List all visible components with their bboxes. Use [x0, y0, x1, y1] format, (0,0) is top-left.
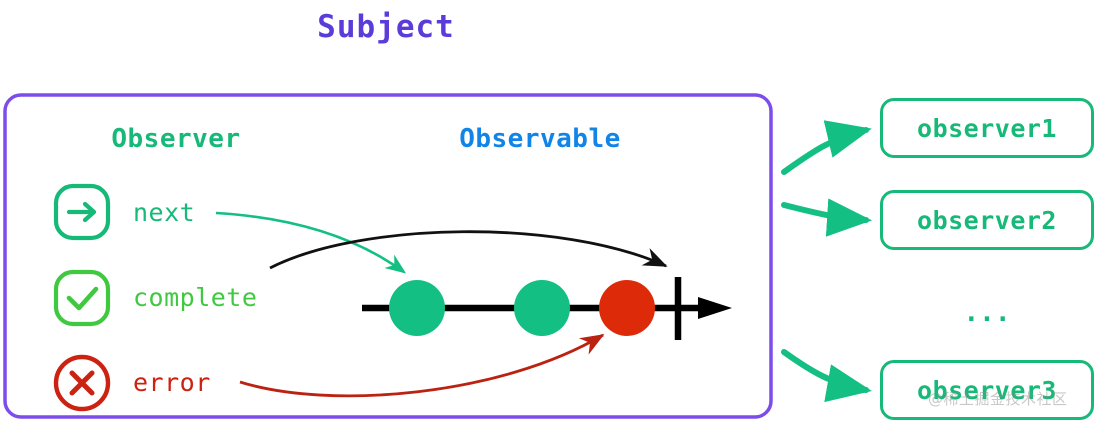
marble-timeline [362, 277, 732, 340]
observer-box-observer2[interactable]: observer2 [880, 190, 1094, 250]
observer-box-observer1[interactable]: observer1 [880, 98, 1094, 158]
method-label-complete: complete [133, 285, 257, 310]
observer-label-observer2: observer2 [917, 206, 1057, 235]
method-label-error: error [133, 370, 211, 395]
observers-ellipsis: ... [880, 300, 1094, 326]
subject-to-observer3-arrow [784, 352, 866, 390]
subject-to-observer1-arrow [784, 130, 866, 172]
marble-next-2 [514, 280, 570, 336]
marble-error [599, 280, 655, 336]
diagram-canvas: Subject Observer Observable next complet… [0, 0, 1098, 428]
subject-to-observer2-arrow [784, 205, 866, 220]
watermark: @稀土掘金技术社区 [928, 392, 1068, 407]
observer-heading: Observer [60, 126, 292, 152]
marble-next-1 [389, 280, 445, 336]
page-title: Subject [0, 12, 772, 43]
method-label-next: next [133, 200, 195, 225]
observable-heading: Observable [420, 126, 660, 152]
observer-label-observer1: observer1 [917, 114, 1057, 143]
